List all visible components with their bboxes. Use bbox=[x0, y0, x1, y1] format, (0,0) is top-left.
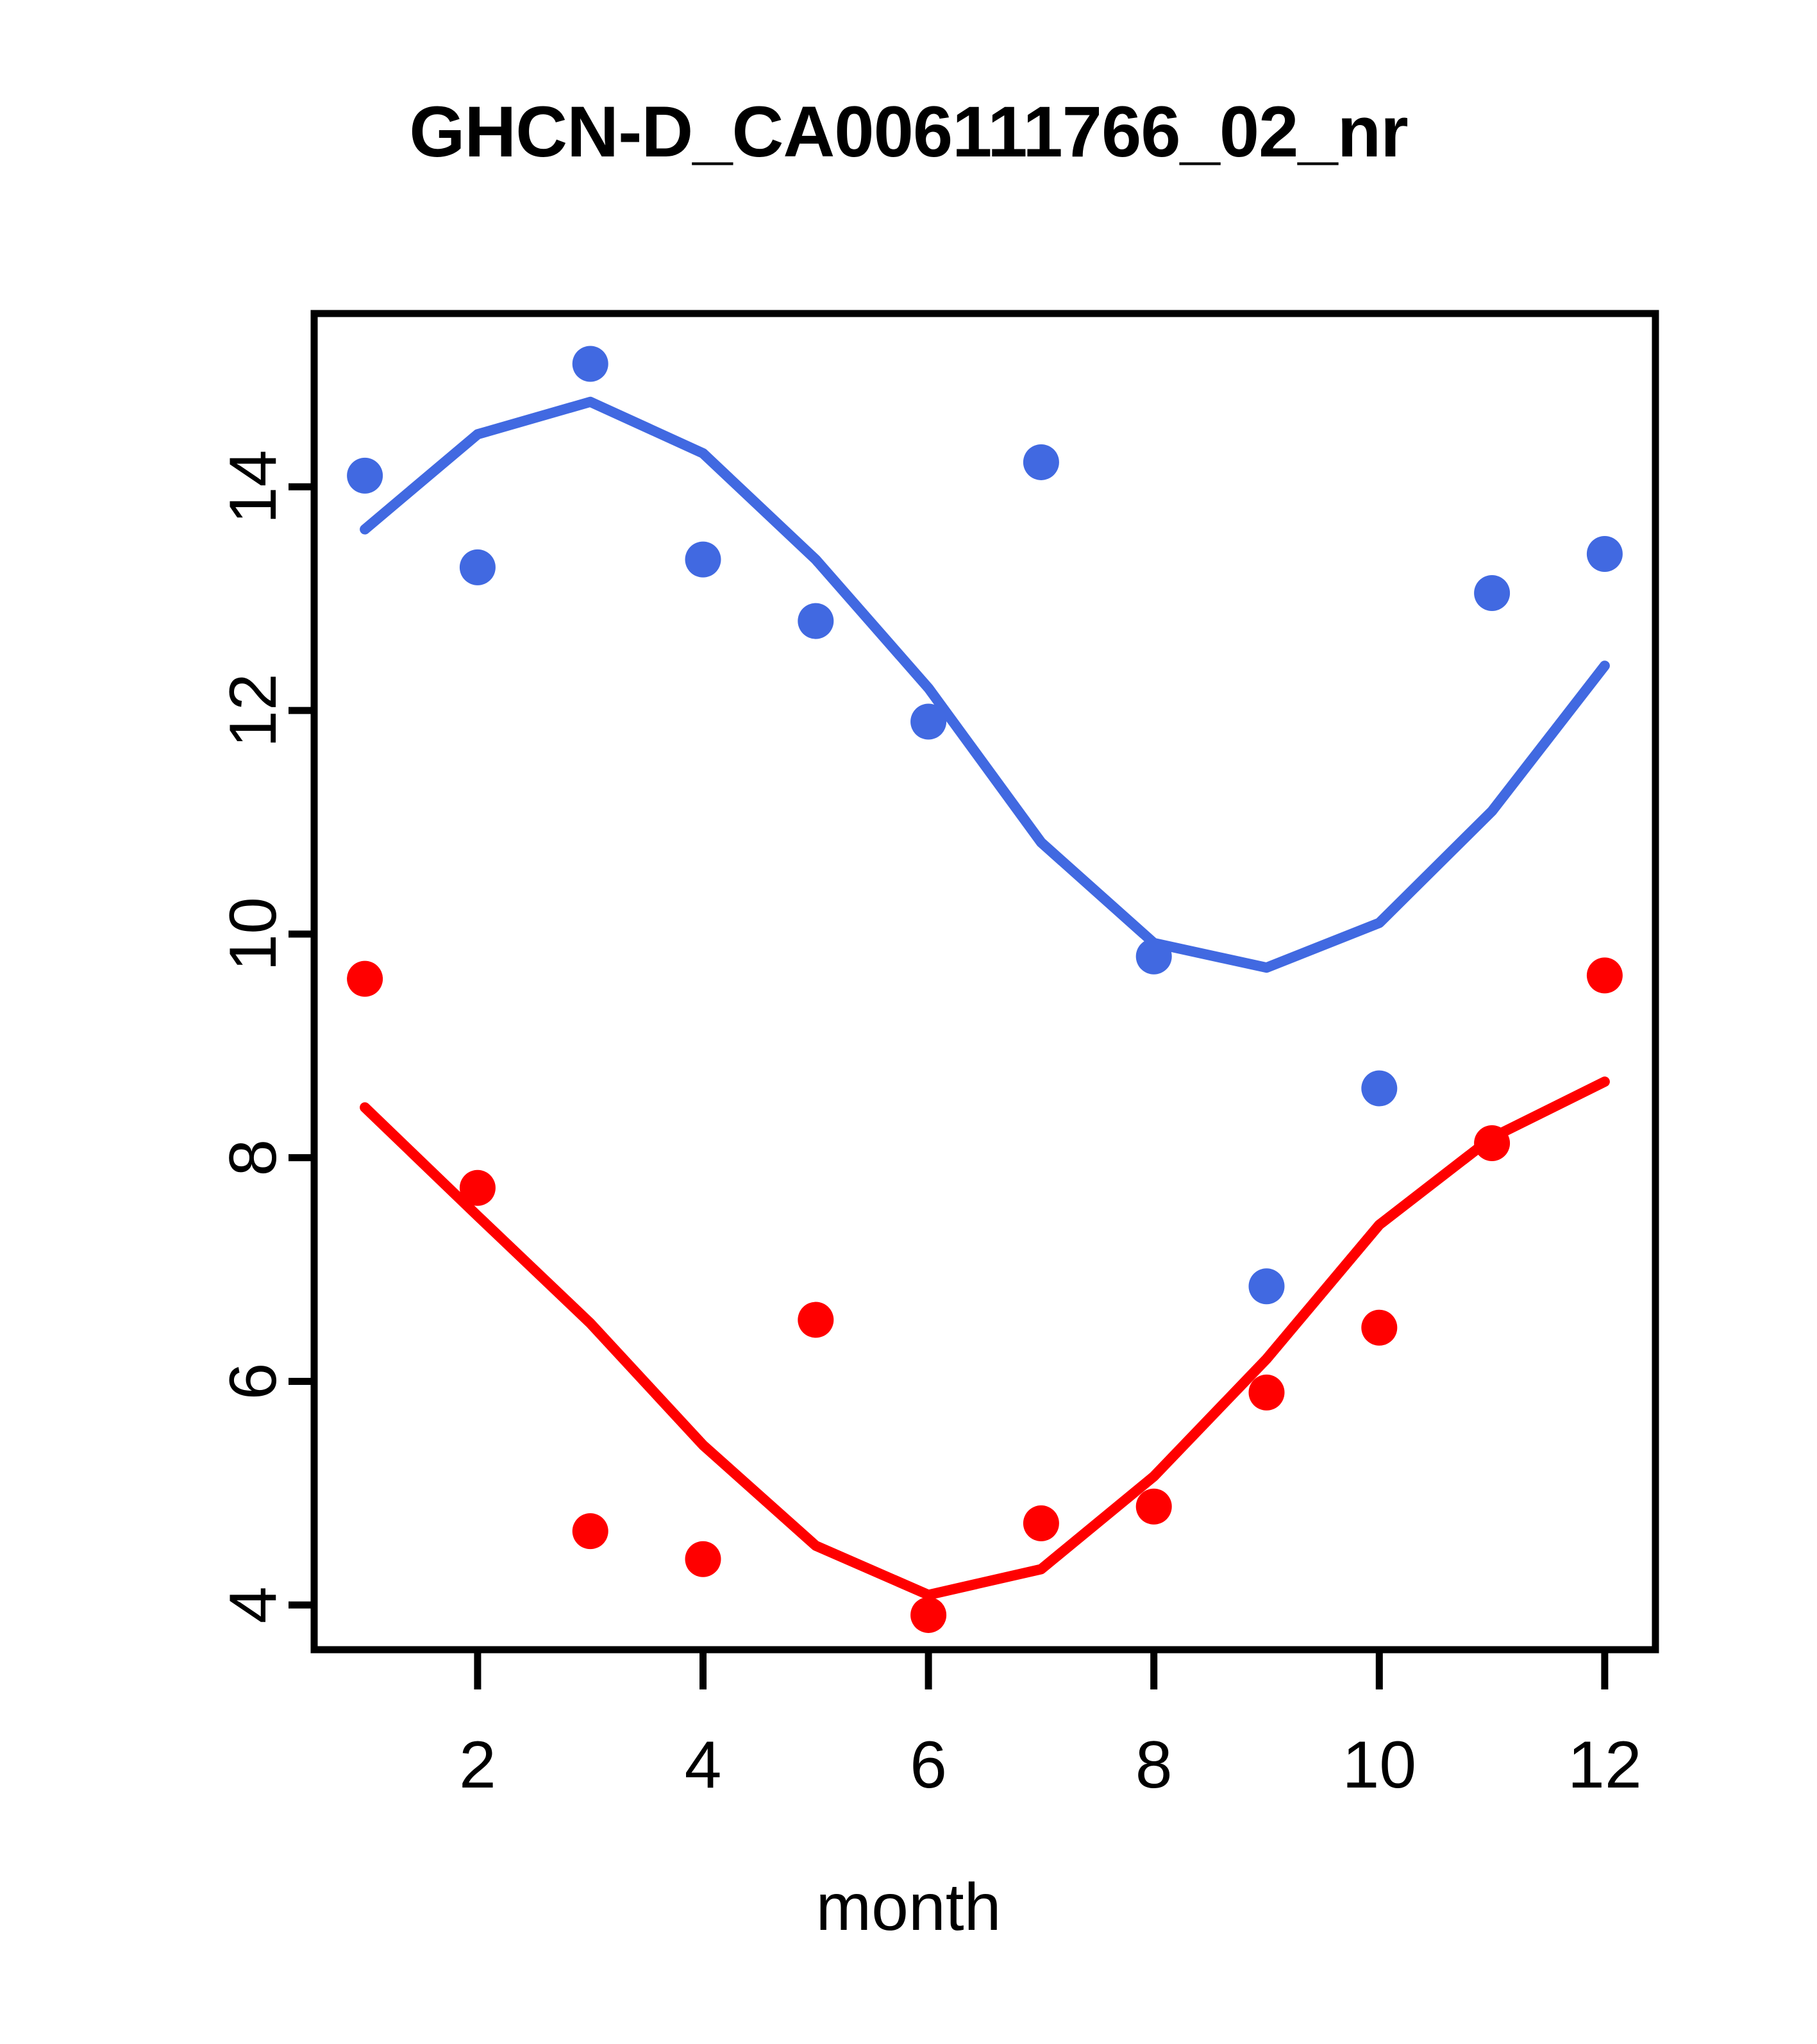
data-point-blue-points bbox=[1023, 444, 1059, 480]
data-point-red-points bbox=[910, 1597, 946, 1633]
plot-area: 468101214 24681012 month bbox=[0, 0, 1817, 2044]
x-axis-tick-labels: 24681012 bbox=[459, 1728, 1642, 1802]
data-point-red-points bbox=[1474, 1125, 1510, 1161]
data-point-blue-points bbox=[573, 346, 608, 381]
x-axis-title: month bbox=[816, 1870, 1001, 1945]
data-point-blue-points bbox=[1474, 575, 1510, 611]
series-line-red-line bbox=[365, 1082, 1605, 1595]
data-point-blue-points bbox=[1248, 1268, 1284, 1304]
data-point-red-points bbox=[685, 1541, 721, 1577]
x-axis-tick-label: 10 bbox=[1342, 1728, 1416, 1802]
series-lines bbox=[365, 402, 1605, 1595]
data-point-red-points bbox=[798, 1302, 833, 1338]
y-axis-tick-label: 4 bbox=[216, 1586, 290, 1623]
data-point-blue-points bbox=[1136, 939, 1172, 975]
y-axis-tick-labels: 468101214 bbox=[216, 449, 290, 1623]
y-axis-tick-label: 10 bbox=[216, 897, 290, 971]
data-point-blue-points bbox=[460, 549, 496, 585]
data-point-red-points bbox=[347, 961, 383, 997]
chart-page: GHCN-D_CA006111766_02_nr 468101214 24681… bbox=[0, 0, 1817, 2044]
data-point-red-points bbox=[1587, 957, 1623, 993]
x-axis-tick-label: 8 bbox=[1135, 1728, 1173, 1802]
x-axis-tick-label: 2 bbox=[459, 1728, 496, 1802]
series-points bbox=[347, 346, 1623, 1632]
x-axis-tick-label: 6 bbox=[910, 1728, 947, 1802]
series-line-blue-line bbox=[365, 402, 1605, 968]
data-point-blue-points bbox=[798, 603, 833, 639]
x-axis-tick-label: 4 bbox=[685, 1728, 722, 1802]
data-point-red-points bbox=[1136, 1489, 1172, 1525]
x-axis-ticks bbox=[478, 1650, 1605, 1689]
data-point-red-points bbox=[1023, 1505, 1059, 1541]
y-axis-tick-label: 6 bbox=[216, 1363, 290, 1400]
data-point-blue-points bbox=[1587, 536, 1623, 572]
y-axis-ticks bbox=[289, 487, 314, 1605]
data-point-blue-points bbox=[1361, 1071, 1397, 1107]
y-axis-tick-label: 14 bbox=[216, 449, 290, 524]
data-point-red-points bbox=[573, 1513, 608, 1549]
data-point-red-points bbox=[460, 1170, 496, 1206]
data-point-red-points bbox=[1361, 1310, 1397, 1346]
data-point-blue-points bbox=[685, 542, 721, 578]
y-axis-tick-label: 12 bbox=[216, 673, 290, 748]
plot-frame bbox=[314, 314, 1655, 1650]
y-axis-tick-label: 8 bbox=[216, 1139, 290, 1177]
data-point-blue-points bbox=[910, 704, 946, 740]
data-point-blue-points bbox=[347, 458, 383, 494]
data-point-red-points bbox=[1248, 1375, 1284, 1411]
x-axis-tick-label: 12 bbox=[1568, 1728, 1642, 1802]
